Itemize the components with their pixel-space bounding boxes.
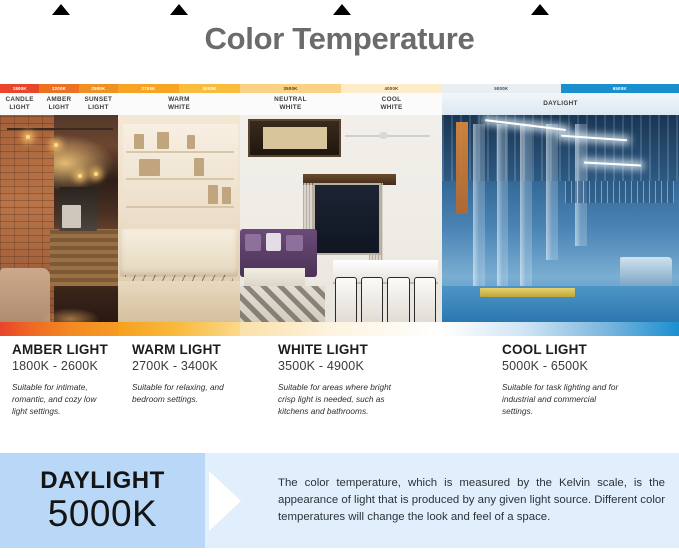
- kelvin-name-line2: WHITE: [168, 104, 190, 112]
- kelvin-chip-row-amber: 1800K 2200K 2500K: [0, 84, 118, 93]
- light-bulb-icon: [94, 172, 98, 176]
- mezzanine-platform: [565, 181, 674, 203]
- decor-object: [194, 158, 204, 176]
- gradient-segment-cool: [442, 322, 679, 336]
- structural-column: [473, 124, 485, 295]
- shelf-line: [126, 206, 234, 208]
- kelvin-name: COOL WHITE: [341, 93, 442, 115]
- kelvin-chip: 2700K: [118, 84, 179, 93]
- wood-counter: [50, 229, 118, 286]
- sofa: [120, 229, 237, 277]
- cushion: [245, 234, 262, 251]
- color-temperature-strip: 1800K 2200K 2500K CANDLE LIGHT AMBER LIG…: [0, 84, 679, 334]
- photo-neutral-living-dining: [240, 115, 442, 334]
- infographic-root: Color Temperature 1800K 2200K 2500K CAND…: [0, 0, 679, 558]
- decor-object: [139, 159, 160, 176]
- gradient-segment-warm: [118, 322, 240, 336]
- category-name: AMBER LIGHT: [12, 342, 118, 357]
- light-bulb-icon: [26, 135, 30, 139]
- kelvin-name-line1: SUNSET: [84, 96, 112, 104]
- kelvin-name: WARM WHITE: [118, 93, 240, 115]
- kelvin-chip: 5000K: [442, 84, 561, 93]
- kelvin-chip: 1800K: [0, 84, 39, 93]
- safety-barrier: [480, 288, 575, 297]
- kelvin-name-row-neutral: NEUTRAL WHITE COOL WHITE: [240, 93, 442, 115]
- shelf-line: [126, 151, 234, 153]
- ceiling-panel: [248, 119, 341, 156]
- light-bulb-icon: [54, 143, 58, 147]
- shelving-unit: [123, 124, 238, 229]
- kelvin-chip: 3000K: [179, 84, 240, 93]
- pointer-arrow-amber: [52, 4, 70, 15]
- category-cool: COOL LIGHT 5000K - 6500K Suitable for ta…: [442, 338, 679, 438]
- scale-panel-amber: 1800K 2200K 2500K CANDLE LIGHT AMBER LIG…: [0, 84, 118, 334]
- decor-object: [208, 185, 218, 204]
- daylight-value: 5000K: [48, 495, 158, 534]
- scale-panel-neutral: 3500K 4000K NEUTRAL WHITE COOL WHITE: [240, 84, 442, 334]
- category-amber: AMBER LIGHT 1800K - 2600K Suitable for i…: [0, 338, 118, 438]
- kelvin-name-line2: LIGHT: [88, 104, 109, 112]
- kelvin-name: NEUTRAL WHITE: [240, 93, 341, 115]
- category-name: COOL LIGHT: [502, 342, 679, 357]
- category-range: 3500K - 4900K: [278, 359, 442, 373]
- category-name: WHITE LIGHT: [278, 342, 442, 357]
- category-range: 1800K - 2600K: [12, 359, 118, 373]
- kelvin-chip: 2500K: [79, 84, 118, 93]
- scale-panel-warm: 2700K 3000K WARM WHITE: [118, 84, 240, 334]
- kelvin-gradient-bar: [0, 322, 679, 336]
- category-range: 5000K - 6500K: [502, 359, 679, 373]
- shelf-line: [126, 178, 234, 180]
- kelvin-name-row-warm: WARM WHITE: [118, 93, 240, 115]
- kelvin-name-line1: CANDLE: [5, 96, 33, 104]
- cushion: [266, 233, 281, 251]
- kelvin-name-line1: COOL: [382, 96, 402, 104]
- light-bulb-icon: [78, 174, 82, 178]
- window: [313, 183, 382, 255]
- category-range: 2700K - 3400K: [132, 359, 240, 373]
- footer-block: DAYLIGHT 5000K The color temperature, wh…: [0, 453, 679, 548]
- decor-object: [187, 135, 195, 149]
- category-description: Suitable for task lighting and for indus…: [502, 382, 679, 417]
- footer-description: The color temperature, which is measured…: [270, 453, 679, 548]
- kelvin-name-line1: DAYLIGHT: [543, 100, 577, 108]
- photo-cool-warehouse: [442, 115, 679, 334]
- category-description: Suitable for intimate, romantic, and coz…: [12, 382, 118, 417]
- kelvin-name: AMBER LIGHT: [39, 93, 78, 115]
- kelvin-name: CANDLE LIGHT: [0, 93, 39, 115]
- category-white: WHITE LIGHT 3500K - 4900K Suitable for a…: [240, 338, 442, 438]
- kelvin-name: DAYLIGHT: [442, 93, 679, 115]
- scale-panel-cool: 5000K 6500K DAYLIGHT: [442, 84, 679, 334]
- decor-object: [134, 134, 143, 149]
- kelvin-chip-row-cool: 5000K 6500K: [442, 84, 679, 93]
- category-warm: WARM LIGHT 2700K - 3400K Suitable for re…: [118, 338, 240, 438]
- structural-column: [520, 124, 532, 295]
- daylight-label: DAYLIGHT: [40, 467, 164, 495]
- daylight-callout: DAYLIGHT 5000K: [0, 453, 205, 548]
- decor-object: [157, 132, 168, 149]
- gradient-segment-white: [240, 322, 442, 336]
- kelvin-chip-row-neutral: 3500K 4000K: [240, 84, 442, 93]
- category-label-row: AMBER LIGHT 1800K - 2600K Suitable for i…: [0, 338, 679, 438]
- kelvin-name-row-cool: DAYLIGHT: [442, 93, 679, 115]
- chevron-right-icon: [205, 453, 270, 548]
- pointer-arrow-white: [333, 4, 351, 15]
- orange-column: [456, 122, 468, 214]
- photo-amber-cafe: [0, 115, 118, 334]
- gradient-segment-amber: [0, 322, 118, 336]
- footer-paragraph: The color temperature, which is measured…: [270, 475, 679, 527]
- category-description: Suitable for relaxing, and bedroom setti…: [132, 382, 240, 406]
- photo-warm-living-room: [118, 115, 240, 334]
- ceiling-fan: [345, 135, 430, 137]
- truck: [620, 257, 672, 285]
- kelvin-name-line2: LIGHT: [49, 104, 70, 112]
- kelvin-name-line1: WARM: [168, 96, 189, 104]
- category-description: Suitable for areas where bright crisp li…: [278, 382, 442, 417]
- kelvin-name-line2: LIGHT: [9, 104, 30, 112]
- kelvin-chip: 2200K: [39, 84, 78, 93]
- kelvin-name-line1: AMBER: [47, 96, 72, 104]
- kelvin-name: SUNSET LIGHT: [79, 93, 118, 115]
- kelvin-chip: 3500K: [240, 84, 341, 93]
- track-light-rail: [7, 128, 113, 130]
- kelvin-name-row-amber: CANDLE LIGHT AMBER LIGHT SUNSET LIGHT: [0, 93, 118, 115]
- kelvin-chip-row-warm: 2700K 3000K: [118, 84, 240, 93]
- kelvin-name-line2: WHITE: [380, 104, 402, 112]
- cushion: [286, 235, 303, 251]
- pointer-arrow-cool: [531, 4, 549, 15]
- structural-column: [497, 124, 509, 295]
- kelvin-chip: 4000K: [341, 84, 442, 93]
- category-name: WARM LIGHT: [132, 342, 240, 357]
- kelvin-chip: 6500K: [561, 84, 679, 93]
- espresso-machine: [59, 187, 97, 231]
- pointer-arrow-warm: [170, 4, 188, 15]
- kelvin-name-line1: NEUTRAL: [274, 96, 307, 104]
- structural-column: [546, 124, 558, 260]
- decor-object: [222, 187, 231, 204]
- kelvin-name-line2: WHITE: [279, 104, 301, 112]
